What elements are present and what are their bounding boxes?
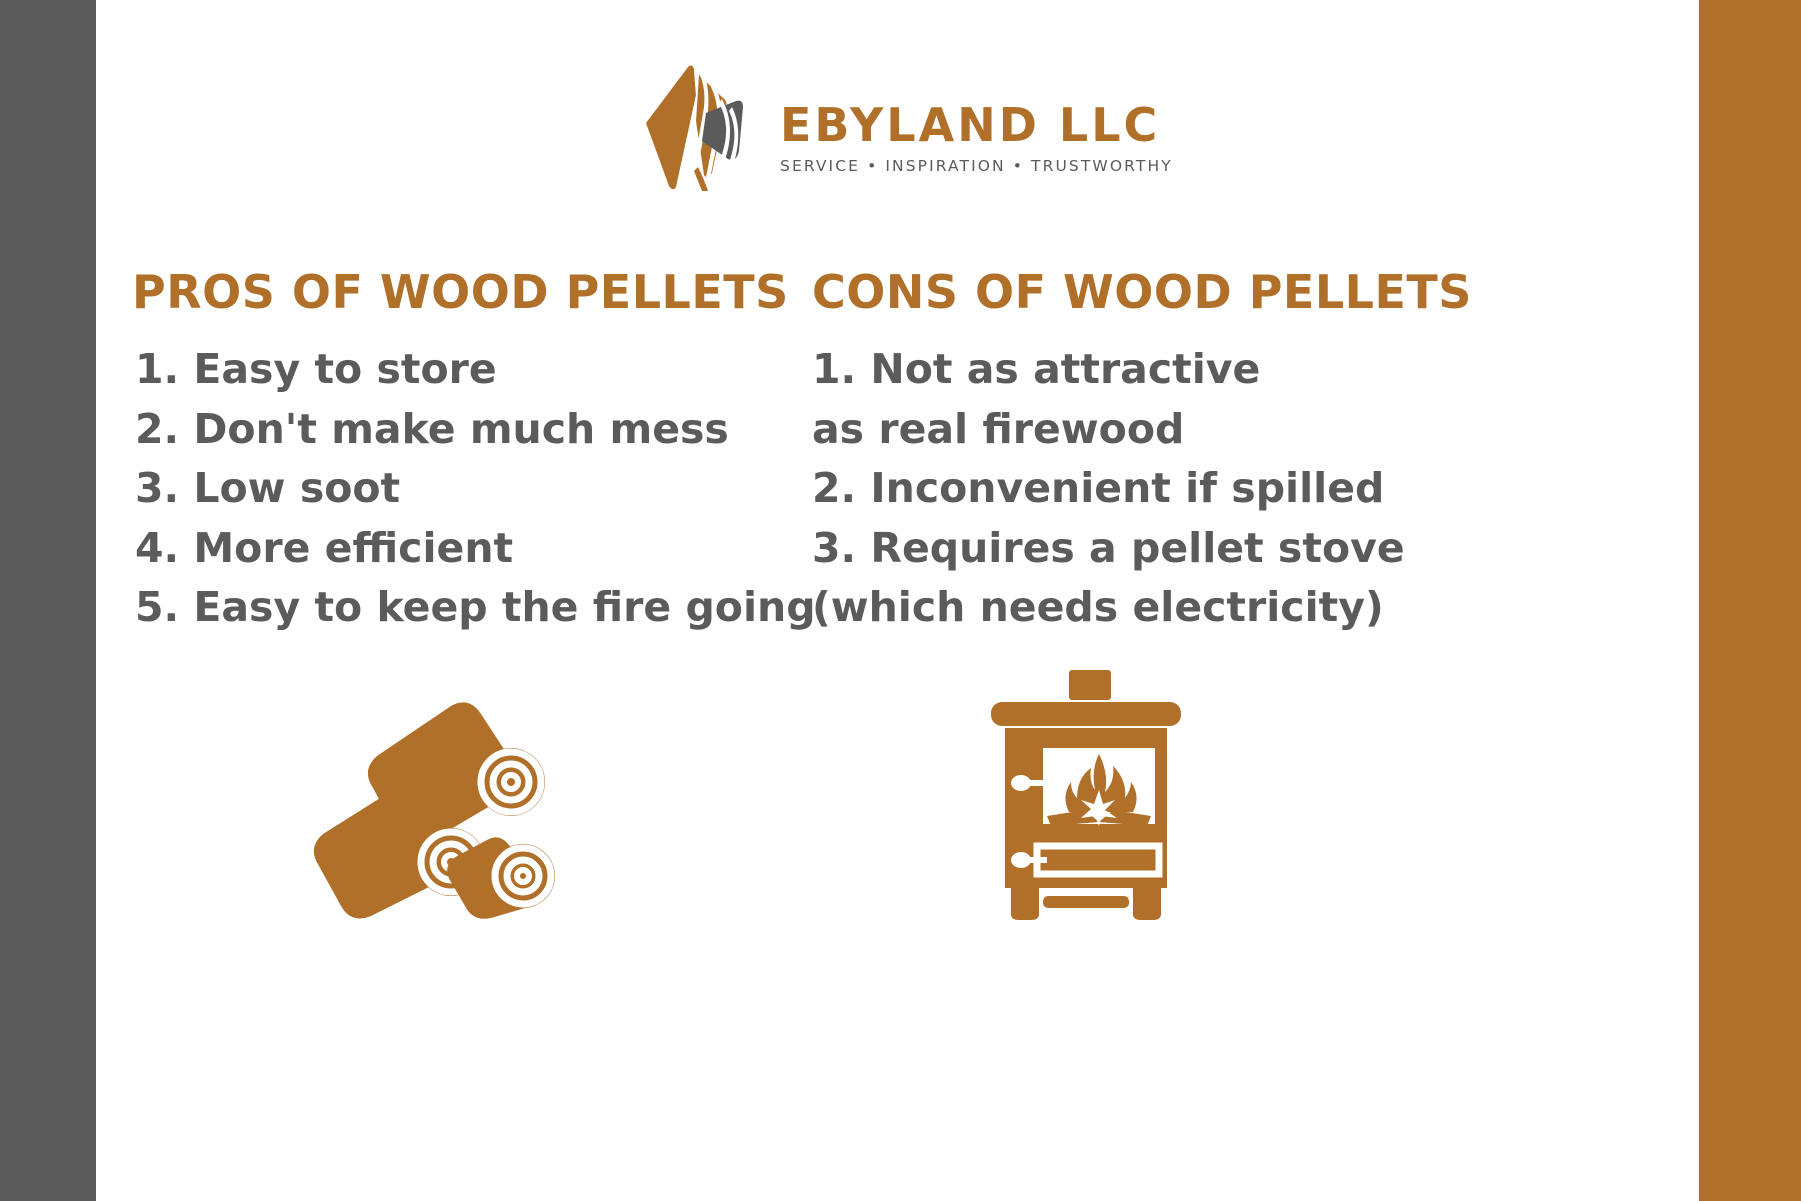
list-item: 3. Low soot [135,459,822,518]
firewood-logs-icon [301,670,561,920]
cons-list: 1. Not as attractive as real firewood 2.… [812,340,1492,637]
brand-tagline: SERVICE • INSPIRATION • TRUSTWORTHY [780,157,1173,175]
cons-column: CONS OF WOOD PELLETS 1. Not as attractiv… [812,268,1492,637]
list-item: as real firewood [812,400,1492,459]
list-item: 1. Easy to store [135,340,822,399]
pros-list: 1. Easy to store 2. Don't make much mess… [132,340,822,637]
list-item: 3. Requires a pellet stove [812,519,1492,578]
brand-wordmark: EBYLAND LLC SERVICE • INSPIRATION • TRUS… [780,76,1173,175]
ebyland-logo-mark [636,55,754,195]
pros-heading: PROS OF WOOD PELLETS [132,268,822,316]
cons-heading: CONS OF WOOD PELLETS [812,268,1492,316]
right-accent-bar [1699,0,1801,1201]
list-item: 4. More efficient [135,519,822,578]
brand-logo: EBYLAND LLC SERVICE • INSPIRATION • TRUS… [636,55,1173,195]
illustration-row [96,660,1699,960]
brand-name: EBYLAND LLC [780,102,1160,148]
list-item: 1. Not as attractive [812,340,1492,399]
list-item: (which needs electricity) [812,578,1492,637]
content-area: EBYLAND LLC SERVICE • INSPIRATION • TRUS… [96,0,1699,1201]
poster-canvas: EBYLAND LLC SERVICE • INSPIRATION • TRUS… [0,0,1801,1201]
left-accent-bar [0,0,96,1201]
list-item: 2. Don't make much mess [135,400,822,459]
comparison-columns: PROS OF WOOD PELLETS 1. Easy to store 2.… [96,268,1699,688]
list-item: 5. Easy to keep the fire going [135,578,822,637]
pellet-stove-icon [981,670,1191,920]
list-item: 2. Inconvenient if spilled [812,459,1492,518]
pros-column: PROS OF WOOD PELLETS 1. Easy to store 2.… [132,268,822,637]
